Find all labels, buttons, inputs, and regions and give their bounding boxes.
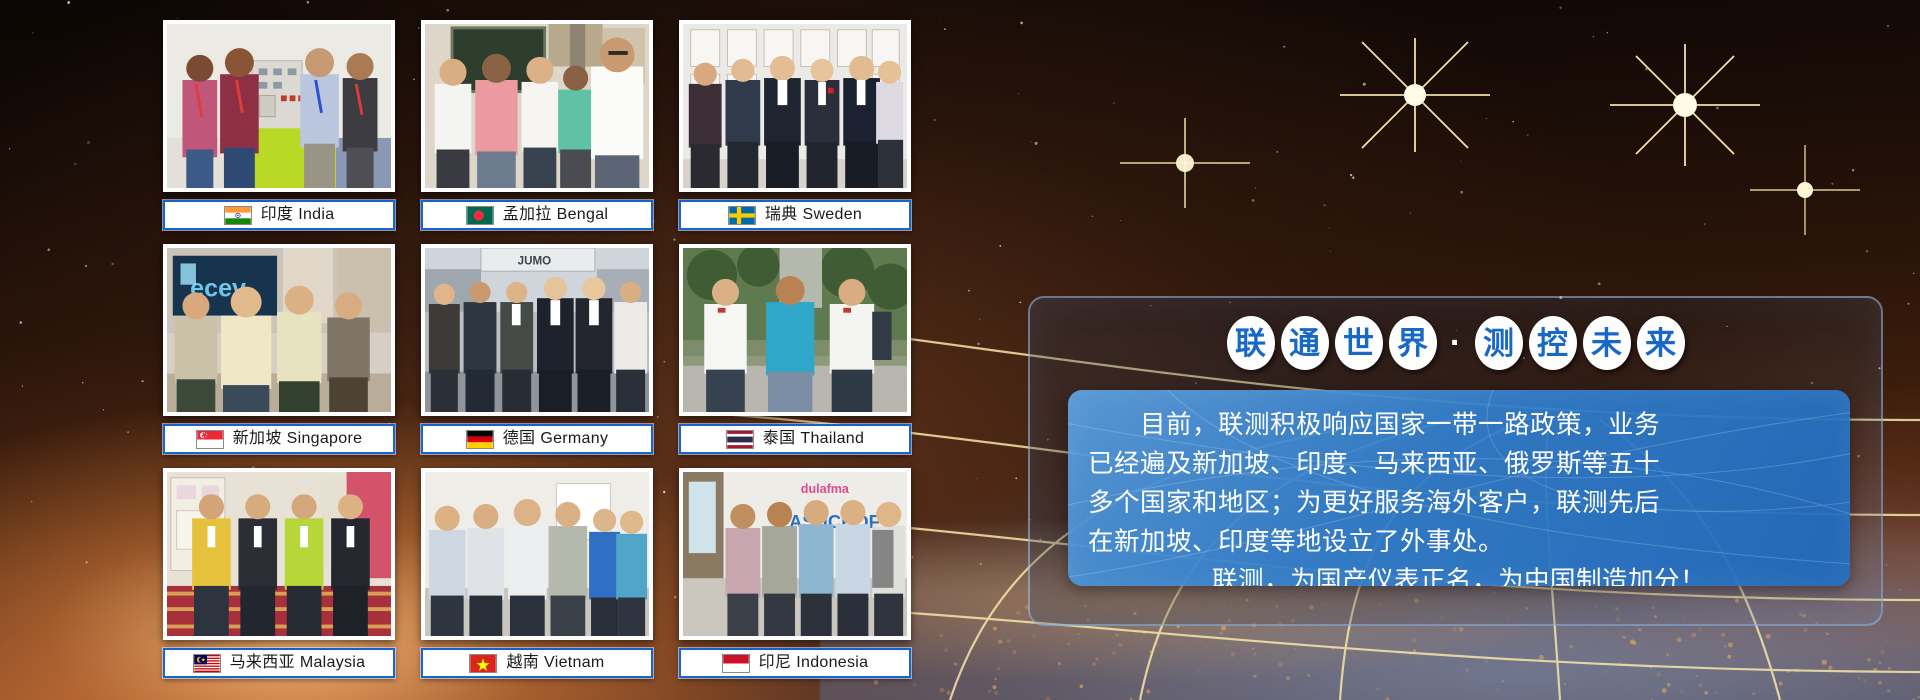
grid-cell-india[interactable]: 印度India xyxy=(163,20,395,232)
slogan-row: 联 通 世 界 · 测 控 未 来 xyxy=(1030,316,1881,370)
photo-india[interactable] xyxy=(163,20,395,192)
flag-malaysia-icon xyxy=(193,654,221,673)
caption-sweden: 瑞典Sweden xyxy=(679,200,911,230)
caption-bengal: 孟加拉Bengal xyxy=(421,200,653,230)
slogan-char-kong: 控 xyxy=(1529,316,1577,370)
caption-label-malaysia: 马来西亚Malaysia xyxy=(230,655,366,671)
svg-text:dulafma: dulafma xyxy=(801,482,850,496)
banner-stage: 印度India xyxy=(0,0,1920,700)
flag-germany-icon xyxy=(466,430,494,449)
calligraphy-char-2: 带 xyxy=(1265,28,1442,199)
caption-label-vietnam: 越南Vietnam xyxy=(506,655,604,671)
caption-indonesia: 印尼Indonesia xyxy=(679,648,911,678)
grid-cell-germany[interactable]: JUMO xyxy=(421,244,653,456)
photo-sweden[interactable] xyxy=(679,20,911,192)
statement-line-5: 联测，为国产仪表正名，为中国制造加分！ xyxy=(1088,562,1830,586)
caption-label-thailand: 泰国Thailand xyxy=(763,431,864,447)
caption-germany: 德国Germany xyxy=(421,424,653,454)
statement-text-box: 目前，联测积极响应国家一带一路政策，业务 已经遍及新加坡、印度、马来西亚、俄罗斯… xyxy=(1068,390,1850,586)
statement-line-1: 目前，联测积极响应国家一带一路政策，业务 xyxy=(1088,406,1830,445)
flag-vietnam-icon xyxy=(469,654,497,673)
slogan-char-lian: 联 xyxy=(1227,316,1275,370)
flag-thailand-icon xyxy=(726,430,754,449)
caption-label-india: 印度India xyxy=(261,207,335,223)
caption-singapore: 新加坡Singapore xyxy=(163,424,395,454)
caption-label-bengal: 孟加拉Bengal xyxy=(503,207,609,223)
grid-cell-sweden[interactable]: 瑞典Sweden xyxy=(679,20,911,232)
caption-malaysia: 马来西亚Malaysia xyxy=(163,648,395,678)
grid-cell-thailand[interactable]: 泰国Thailand xyxy=(679,244,911,456)
photo-germany[interactable]: JUMO xyxy=(421,244,653,416)
grid-cell-malaysia[interactable]: 马来西亚Malaysia xyxy=(163,468,395,680)
caption-india: 印度India xyxy=(163,200,395,230)
photo-thailand[interactable] xyxy=(679,244,911,416)
slogan-char-ce: 测 xyxy=(1475,316,1523,370)
flag-singapore-icon xyxy=(196,430,224,449)
calligraphy-char-4: 路 xyxy=(1616,29,1801,202)
grid-cell-vietnam[interactable]: 越南Vietnam xyxy=(421,468,653,680)
photo-singapore[interactable]: ecev xyxy=(163,244,395,416)
grid-cell-singapore[interactable]: ecev xyxy=(163,244,395,456)
caption-label-germany: 德国Germany xyxy=(503,431,609,447)
slogan-char-jie: 界 xyxy=(1389,316,1437,370)
caption-vietnam: 越南Vietnam xyxy=(421,648,653,678)
flag-bangladesh-icon xyxy=(466,206,494,225)
slogan-char-shi: 世 xyxy=(1335,316,1383,370)
photo-indonesia[interactable]: dulafma ASHCROFT xyxy=(679,468,911,640)
calligraphy-char-1: 一 xyxy=(1112,64,1239,190)
caption-thailand: 泰国Thailand xyxy=(679,424,911,454)
country-photo-grid: 印度India xyxy=(163,20,923,680)
caption-label-sweden: 瑞典Sweden xyxy=(765,207,862,223)
belt-and-road-headline: 一 带 一 路 xyxy=(1010,10,1900,225)
svg-text:JUMO: JUMO xyxy=(518,255,551,267)
slogan-char-lai: 来 xyxy=(1637,316,1685,370)
statement-line-4: 在新加坡、印度等地设立了外事处。 xyxy=(1088,523,1830,562)
flag-indonesia-icon xyxy=(722,654,750,673)
flag-india-icon xyxy=(224,206,252,225)
statement-line-3: 多个国家和地区；为更好服务海外客户，联测先后 xyxy=(1088,484,1830,523)
flag-sweden-icon xyxy=(728,206,756,225)
grid-cell-bengal[interactable]: 孟加拉Bengal xyxy=(421,20,653,232)
slogan-char-tong: 通 xyxy=(1281,316,1329,370)
caption-label-indonesia: 印尼Indonesia xyxy=(759,655,869,671)
photo-malaysia[interactable] xyxy=(163,468,395,640)
photo-vietnam[interactable] xyxy=(421,468,653,640)
photo-bengal[interactable] xyxy=(421,20,653,192)
statement-line-2: 已经遍及新加坡、印度、马来西亚、俄罗斯等五十 xyxy=(1088,445,1830,484)
caption-label-singapore: 新加坡Singapore xyxy=(233,431,363,447)
slogan-separator-dot: · xyxy=(1443,316,1469,370)
calligraphy-char-3: 一 xyxy=(1465,66,1592,192)
slogan-char-wei: 未 xyxy=(1583,316,1631,370)
belt-and-road-characters: 一 带 一 路 xyxy=(999,10,1912,225)
company-statement-panel: 联 通 世 界 · 测 控 未 来 目前，联测积极响应国家一带一路政策，业务 已… xyxy=(1028,296,1883,626)
grid-cell-indonesia[interactable]: dulafma ASHCROFT 印尼 xyxy=(679,468,911,680)
